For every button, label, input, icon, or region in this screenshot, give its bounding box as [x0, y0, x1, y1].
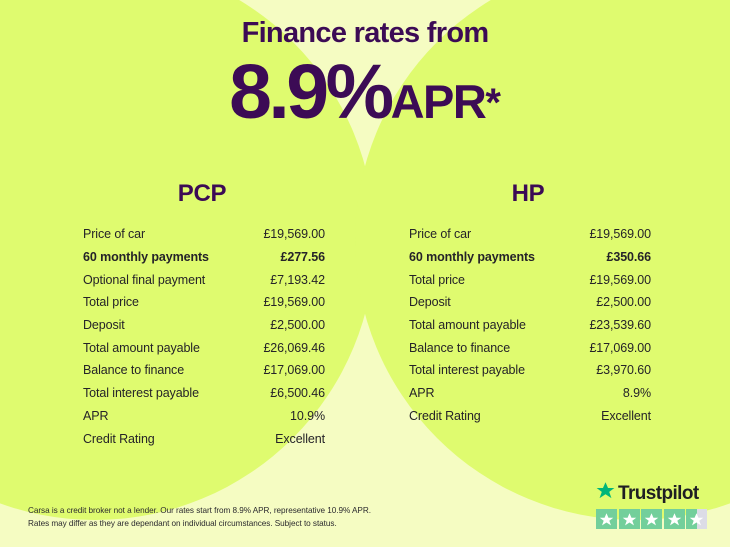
table-row: APR 10.9% [73, 405, 331, 428]
table-row: Balance to finance £17,069.00 [73, 359, 331, 382]
row-value: £3,970.60 [596, 363, 651, 377]
row-label: Total amount payable [83, 341, 200, 355]
rating-star-4 [664, 509, 685, 529]
asterisk-marker: * [485, 81, 501, 125]
row-label: Total interest payable [409, 363, 525, 377]
finance-plan-comparison: PCP Price of car £19,569.00 60 monthly p… [0, 180, 730, 450]
table-row: Price of car £19,569.00 [73, 223, 331, 246]
table-row: 60 monthly payments £350.66 [399, 246, 657, 269]
trustpilot-name: Trustpilot [618, 484, 699, 503]
row-label: Balance to finance [83, 363, 184, 377]
row-label: Deposit [409, 295, 451, 309]
row-label: Total interest payable [83, 386, 199, 400]
table-row: Total amount payable £26,069.46 [73, 336, 331, 359]
row-value: Excellent [601, 409, 651, 423]
table-row: Total price £19,569.00 [73, 291, 331, 314]
row-value: £19,569.00 [263, 295, 325, 309]
table-row: APR 8.9% [399, 382, 657, 405]
legal-disclaimer: Carsa is a credit broker not a lender. O… [28, 504, 371, 531]
row-value: £2,500.00 [596, 295, 651, 309]
trustpilot-rating-stars [596, 509, 714, 529]
banner-footer: Carsa is a credit broker not a lender. O… [0, 479, 730, 547]
header-eyebrow: Finance rates from [0, 18, 730, 50]
row-label: Total price [83, 295, 139, 309]
table-row: Total amount payable £23,539.60 [399, 314, 657, 337]
table-row: 60 monthly payments £277.56 [73, 246, 331, 269]
trustpilot-wordmark: Trustpilot [596, 481, 714, 505]
headline-rate-unit: APR [391, 75, 486, 128]
rating-star-1 [596, 509, 617, 529]
headline-rate: 8.9%APR* [0, 54, 730, 131]
row-value: £277.56 [281, 250, 326, 264]
row-value: £19,569.00 [263, 227, 325, 241]
table-row: Total interest payable £6,500.46 [73, 382, 331, 405]
row-value: £17,069.00 [263, 363, 325, 377]
table-row: Deposit £2,500.00 [73, 314, 331, 337]
row-value: £350.66 [607, 250, 652, 264]
row-value: 10.9% [290, 409, 325, 423]
row-label: APR [409, 386, 434, 400]
headline-rate-number: 8.9% [229, 49, 391, 135]
plan-rows-pcp: Price of car £19,569.00 60 monthly payme… [73, 223, 331, 450]
row-label: Total amount payable [409, 318, 526, 332]
rating-star-3 [641, 509, 662, 529]
row-label: Balance to finance [409, 341, 510, 355]
row-value: £17,069.00 [589, 341, 651, 355]
row-label: Credit Rating [83, 432, 155, 446]
disclaimer-line-1: Carsa is a credit broker not a lender. O… [28, 504, 371, 518]
row-label: Optional final payment [83, 273, 205, 287]
row-value: £7,193.42 [270, 273, 325, 287]
table-row: Price of car £19,569.00 [399, 223, 657, 246]
banner-header: Finance rates from 8.9%APR* [0, 0, 730, 131]
plan-column-pcp: PCP Price of car £19,569.00 60 monthly p… [73, 180, 331, 450]
row-label: 60 monthly payments [409, 250, 535, 264]
row-value: £19,569.00 [589, 273, 651, 287]
disclaimer-line-2: Rates may differ as they are dependant o… [28, 517, 371, 531]
trustpilot-star-icon [596, 481, 615, 505]
table-row: Optional final payment £7,193.42 [73, 268, 331, 291]
row-label: Deposit [83, 318, 125, 332]
table-row: Balance to finance £17,069.00 [399, 336, 657, 359]
table-row: Credit Rating Excellent [73, 427, 331, 450]
row-value: £2,500.00 [270, 318, 325, 332]
table-row: Total interest payable £3,970.60 [399, 359, 657, 382]
row-value: £6,500.46 [270, 386, 325, 400]
table-row: Total price £19,569.00 [399, 268, 657, 291]
plan-column-hp: HP Price of car £19,569.00 60 monthly pa… [399, 180, 657, 450]
row-label: Price of car [83, 227, 145, 241]
row-label: 60 monthly payments [83, 250, 209, 264]
row-value: £19,569.00 [589, 227, 651, 241]
table-row: Deposit £2,500.00 [399, 291, 657, 314]
rating-star-2 [619, 509, 640, 529]
rating-star-5-partial [686, 509, 707, 529]
row-label: Credit Rating [409, 409, 481, 423]
row-label: Total price [409, 273, 465, 287]
table-row: Credit Rating Excellent [399, 405, 657, 428]
row-label: APR [83, 409, 108, 423]
plan-title-hp: HP [399, 180, 657, 208]
row-value: £26,069.46 [263, 341, 325, 355]
row-value: £23,539.60 [589, 318, 651, 332]
promo-banner: Finance rates from 8.9%APR* PCP Price of… [0, 0, 730, 547]
plan-title-pcp: PCP [73, 180, 331, 208]
row-label: Price of car [409, 227, 471, 241]
row-value: 8.9% [623, 386, 651, 400]
plan-rows-hp: Price of car £19,569.00 60 monthly payme… [399, 223, 657, 427]
trustpilot-badge[interactable]: Trustpilot [596, 481, 714, 529]
row-value: Excellent [275, 432, 325, 446]
